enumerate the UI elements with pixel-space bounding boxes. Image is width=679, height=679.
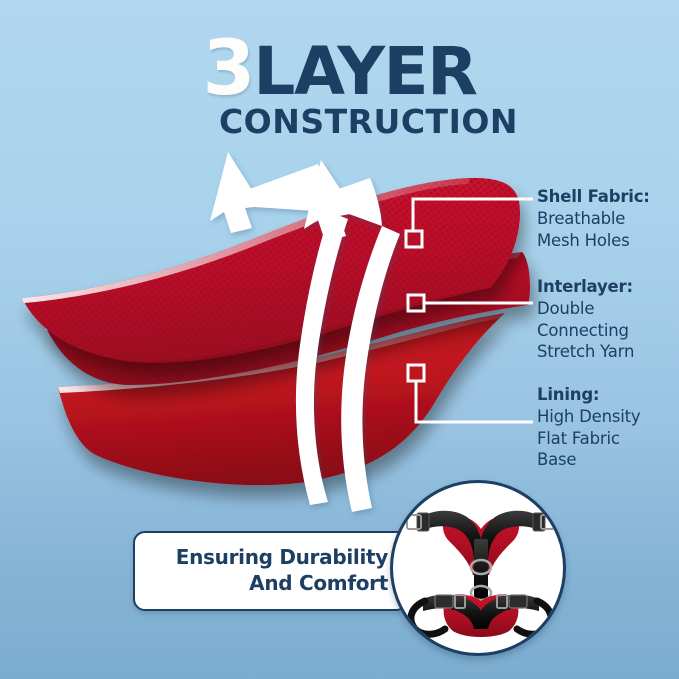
callout-interlayer-line2: Connecting	[537, 320, 634, 342]
callout-shell-line1: Breathable	[537, 208, 650, 230]
callout-lining-line1: High Density	[537, 406, 641, 428]
callout-lining-line2: Flat Fabric	[537, 428, 641, 450]
caption-box: Ensuring Durability And Comfort	[133, 531, 408, 611]
callout-interlayer: Interlayer: Double Connecting Stretch Ya…	[537, 276, 634, 363]
callout-shell-fabric: Shell Fabric: Breathable Mesh Holes	[537, 186, 650, 251]
caption-line2: And Comfort	[249, 571, 388, 597]
callout-interlayer-line1: Double	[537, 298, 634, 320]
callout-shell-line2: Mesh Holes	[537, 230, 650, 252]
callout-lining: Lining: High Density Flat Fabric Base	[537, 384, 641, 471]
dog-harness-icon	[393, 483, 566, 656]
callout-lining-line3: Base	[537, 449, 641, 471]
callout-shell-title: Shell Fabric:	[537, 186, 650, 208]
callout-interlayer-title: Interlayer:	[537, 276, 634, 298]
caption-text: Ensuring Durability And Comfort	[135, 533, 406, 609]
callout-lining-title: Lining:	[537, 384, 641, 406]
caption-line1: Ensuring Durability	[176, 545, 388, 571]
three-layer-construction-infographic: 3 LAYER CONSTRUCTION Shell Fabric: Breat…	[0, 0, 679, 679]
product-photo-circle	[390, 480, 566, 656]
callout-interlayer-line3: Stretch Yarn	[537, 341, 634, 363]
